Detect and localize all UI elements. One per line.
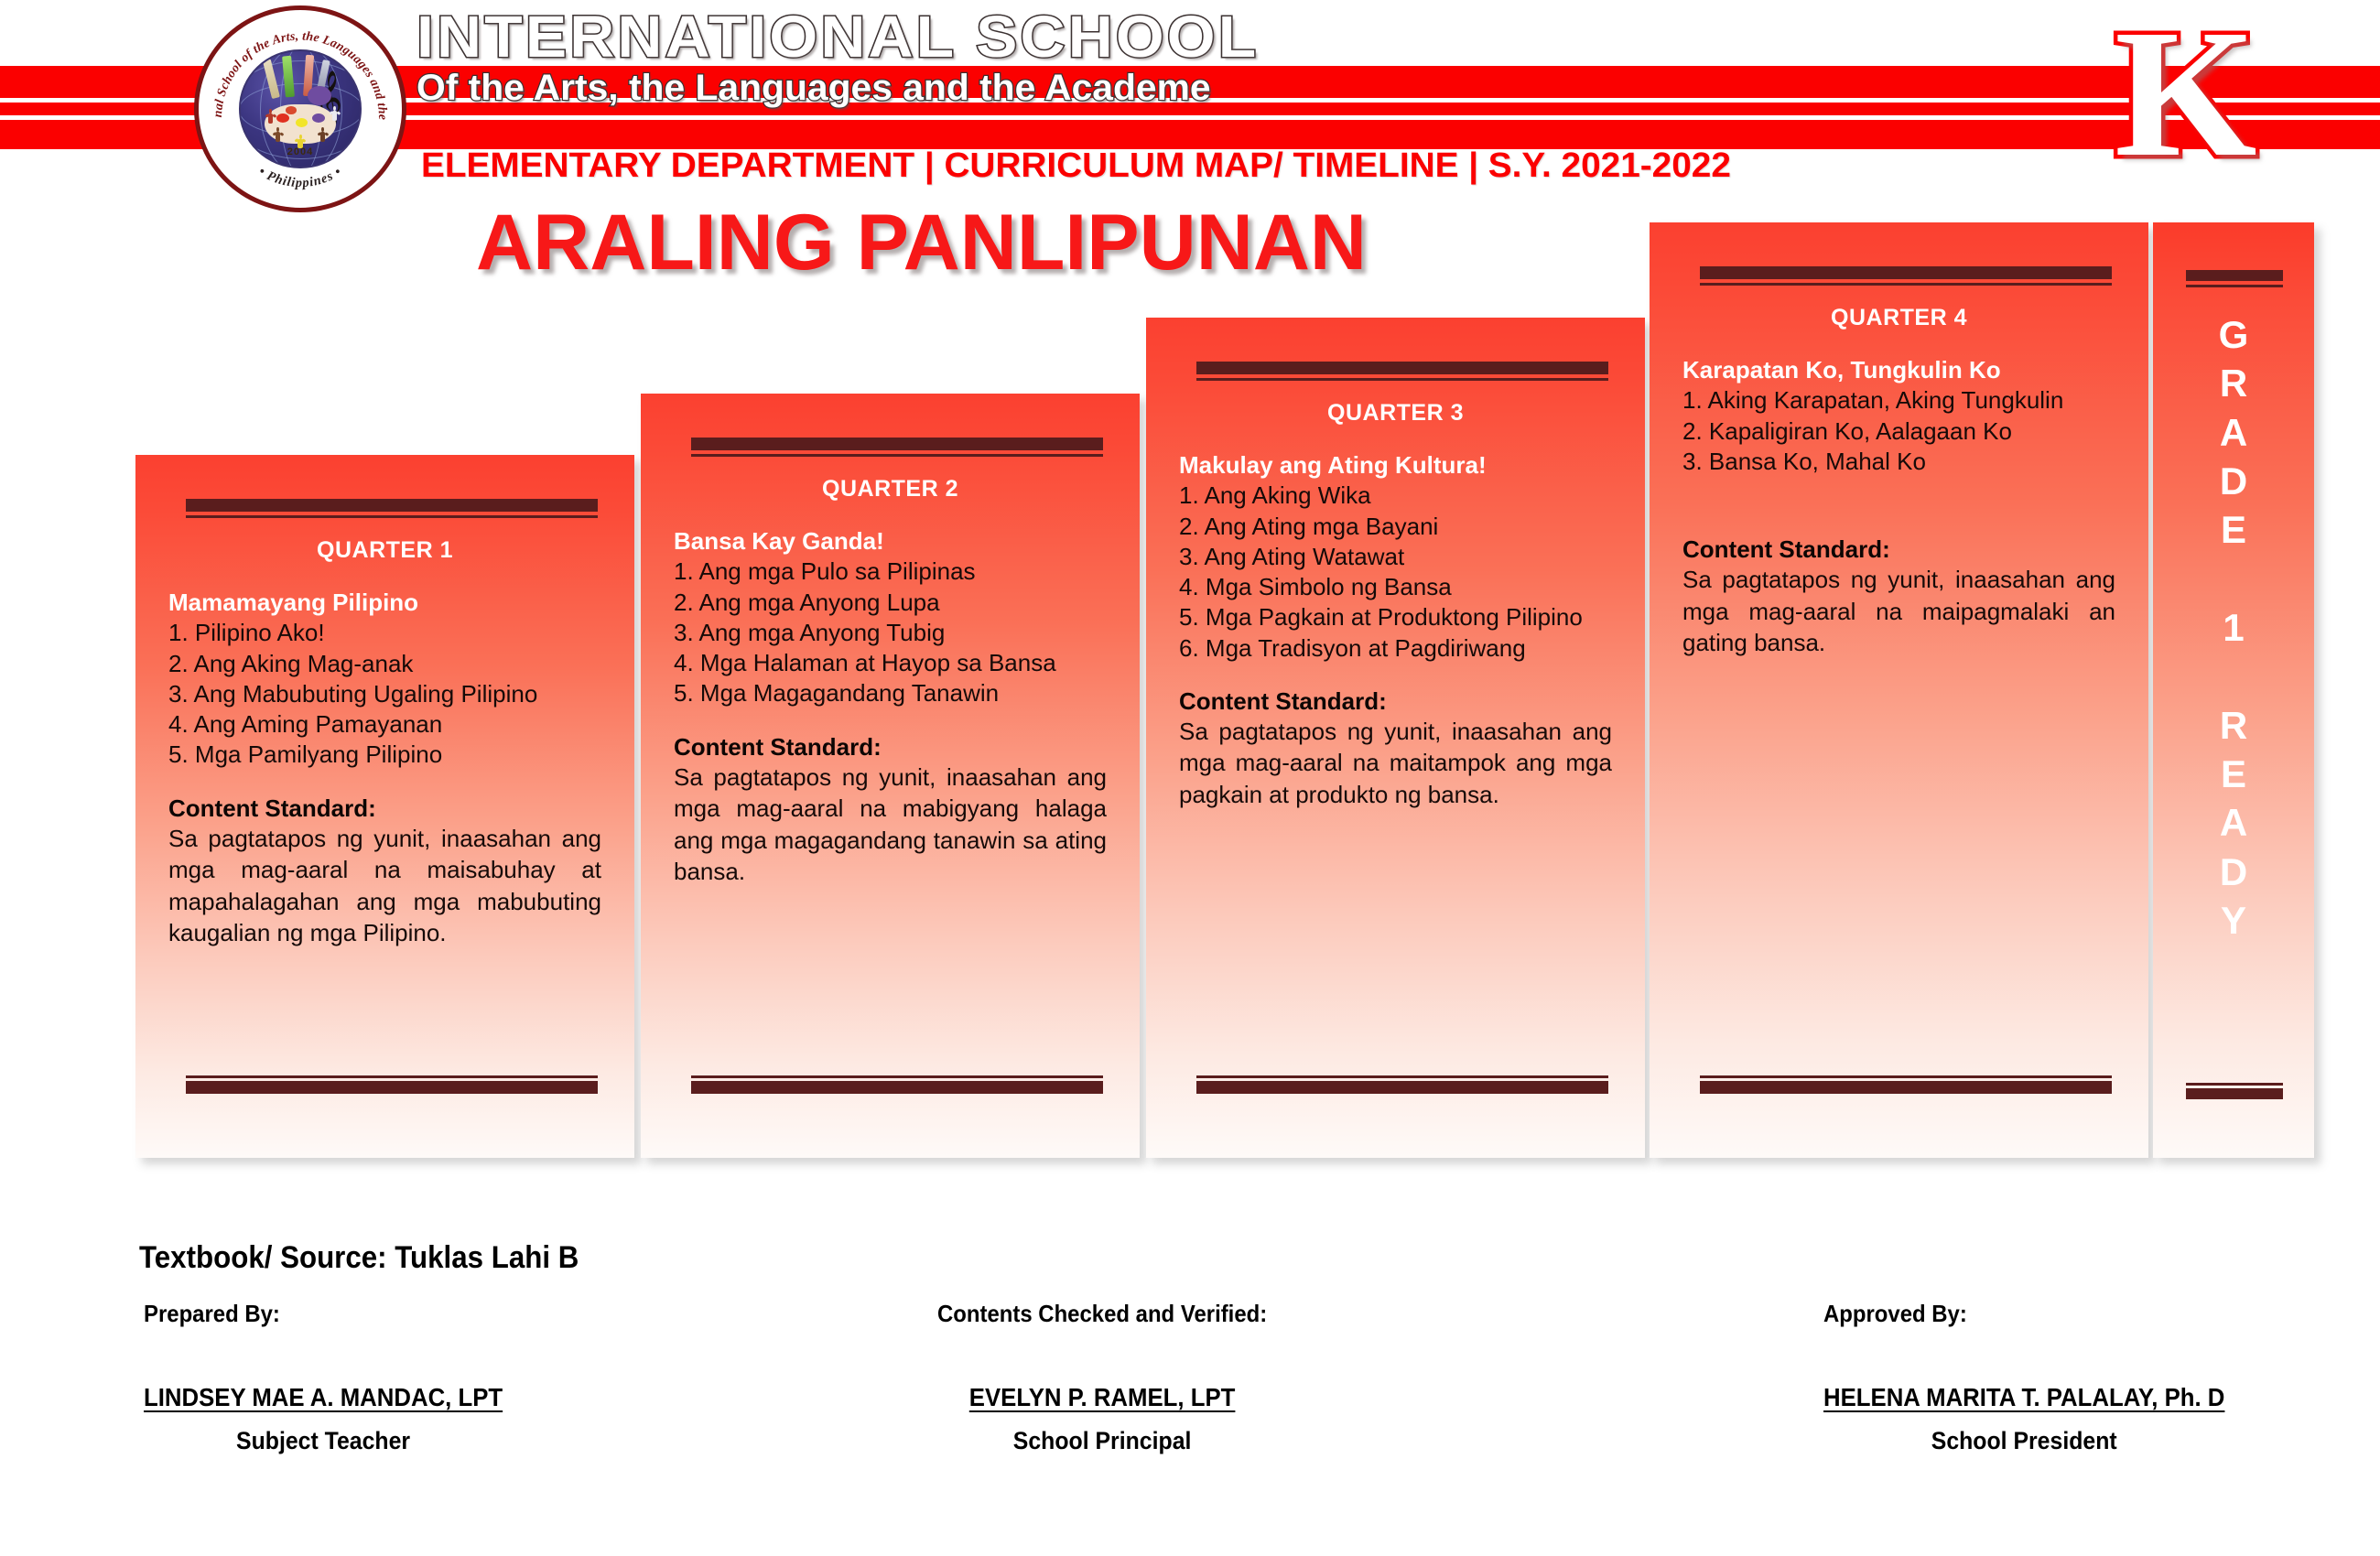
quarter-card-4[interactable]: QUARTER 4 Karapatan Ko, Tungkulin Ko 1. … — [1650, 222, 2148, 1158]
quarter-card-1[interactable]: QUARTER 1 Mamamayang Pilipino 1. Pilipin… — [135, 455, 634, 1158]
signature-position: School Principal — [937, 1427, 1267, 1455]
signature-name: LINDSEY MAE A. MANDAC, LPT — [144, 1383, 503, 1412]
quarter-topics: 1. Ang Aking Wika 2. Ang Ating mga Bayan… — [1179, 481, 1612, 664]
content-standard-text: Sa pagtatapos ng yunit, inaasahan ang mg… — [1682, 564, 2115, 659]
quarter-topics: 1. Aking Karapatan, Aking Tungkulin 2. K… — [1682, 385, 2115, 477]
quarter-topics: 1. Ang mga Pulo sa Pilipinas 2. Ang mga … — [674, 556, 1107, 708]
grade-letter: R — [2153, 701, 2314, 750]
content-standard-label: Content Standard: — [168, 794, 601, 823]
quarter-topics: 1. Pilipino Ako! 2. Ang Aking Mag-anak 3… — [168, 618, 601, 770]
quarter-heading: QUARTER 1 — [168, 537, 601, 564]
topic-item: 3. Ang Mabubuting Ugaling Pilipino — [168, 679, 601, 709]
card-rule-top — [1196, 362, 1608, 381]
quarter-heading: QUARTER 2 — [674, 476, 1107, 502]
quarter-card-2[interactable]: QUARTER 2 Bansa Kay Ganda! 1. Ang mga Pu… — [641, 394, 1140, 1158]
topic-item: 2. Ang Aking Mag-anak — [168, 649, 601, 679]
topic-item: 2. Kapaligiran Ko, Aalagaan Ko — [1682, 416, 2115, 447]
content-standard-label: Content Standard: — [1682, 535, 2115, 564]
quarter-heading: QUARTER 3 — [1179, 400, 1612, 427]
signature-block-checked-by: Contents Checked and Verified: EVELYN P.… — [796, 1300, 1437, 1455]
card-rule-bottom — [1196, 1075, 1608, 1094]
topic-item: 3. Ang mga Anyong Tubig — [674, 618, 1107, 648]
grade-letter: E — [2153, 505, 2314, 554]
card-rule-bottom — [691, 1075, 1103, 1094]
topic-item: 6. Mga Tradisyon at Pagdiriwang — [1179, 633, 1612, 664]
grade-letter: Y — [2153, 896, 2314, 945]
content-standard-text: Sa pagtatapos ng yunit, inaasahan ang mg… — [168, 823, 601, 949]
topic-item: 1. Aking Karapatan, Aking Tungkulin — [1682, 385, 2115, 416]
quarter-subtitle: Karapatan Ko, Tungkulin Ko — [1682, 355, 2115, 385]
card-rule-bottom — [1700, 1075, 2112, 1094]
quarter-subtitle: Mamamayang Pilipino — [168, 588, 601, 618]
grade-letter: D — [2153, 457, 2314, 505]
grade-letter: A — [2153, 408, 2314, 457]
topic-item: 1. Ang mga Pulo sa Pilipinas — [674, 556, 1107, 587]
topic-item: 4. Ang Aming Pamayanan — [168, 709, 601, 740]
grade-letter: D — [2153, 848, 2314, 896]
textbook-source: Textbook/ Source: Tuklas Lahi B — [139, 1240, 579, 1276]
quarter-cards-container: QUARTER 1 Mamamayang Pilipino 1. Pilipin… — [0, 0, 2380, 1208]
grade-ready-column[interactable]: G R A D E 1 R E A D Y — [2153, 222, 2314, 1158]
grade-letter: G — [2153, 310, 2314, 359]
topic-item: 5. Mga Pamilyang Pilipino — [168, 740, 601, 770]
signature-position: School President — [1823, 1427, 2224, 1455]
card-rule-top — [1700, 266, 2112, 286]
signature-block-approved-by: Approved By: HELENA MARITA T. PALALAY, P… — [1721, 1300, 2362, 1455]
topic-item: 3. Bansa Ko, Mahal Ko — [1682, 447, 2115, 477]
signature-block-prepared-by: Prepared By: LINDSEY MAE A. MANDAC, LPT … — [18, 1300, 659, 1455]
quarter-heading: QUARTER 4 — [1682, 305, 2115, 331]
signature-role: Approved By: — [1823, 1300, 2224, 1328]
grade-letter: R — [2153, 359, 2314, 407]
topic-item: 3. Ang Ating Watawat — [1179, 542, 1612, 572]
topic-item: 1. Pilipino Ako! — [168, 618, 601, 648]
card-rule-top — [186, 499, 598, 518]
grade-ready-letters: G R A D E 1 R E A D Y — [2153, 310, 2314, 945]
page-footer: Textbook/ Source: Tuklas Lahi B Prepared… — [0, 1208, 2380, 1556]
quarter-subtitle: Makulay ang Ating Kultura! — [1179, 450, 1612, 481]
content-standard-label: Content Standard: — [1179, 687, 1612, 716]
quarter-subtitle: Bansa Kay Ganda! — [674, 526, 1107, 556]
signature-position: Subject Teacher — [144, 1427, 503, 1455]
grade-letter: 1 — [2153, 603, 2314, 652]
quarter-card-3[interactable]: QUARTER 3 Makulay ang Ating Kultura! 1. … — [1146, 318, 1645, 1158]
content-standard-text: Sa pagtatapos ng yunit, inaasahan ang mg… — [1179, 716, 1612, 811]
card-rule-top — [2186, 270, 2283, 287]
topic-item: 5. Mga Pagkain at Produktong Pilipino — [1179, 602, 1612, 632]
topic-item: 5. Mga Magagandang Tanawin — [674, 678, 1107, 708]
topic-item: 4. Mga Halaman at Hayop sa Bansa — [674, 648, 1107, 678]
grade-letter: E — [2153, 750, 2314, 798]
signature-name: HELENA MARITA T. PALALAY, Ph. D — [1823, 1383, 2224, 1412]
topic-item: 4. Mga Simbolo ng Bansa — [1179, 572, 1612, 602]
content-standard-label: Content Standard: — [674, 733, 1107, 762]
signature-role: Contents Checked and Verified: — [937, 1300, 1267, 1328]
content-standard-text: Sa pagtatapos ng yunit, inaasahan ang mg… — [674, 762, 1107, 888]
card-rule-top — [691, 438, 1103, 457]
card-rule-bottom — [2186, 1083, 2283, 1099]
signature-name: EVELYN P. RAMEL, LPT — [937, 1383, 1267, 1412]
grade-letter: A — [2153, 798, 2314, 847]
card-rule-bottom — [186, 1075, 598, 1094]
signature-role: Prepared By: — [144, 1300, 503, 1328]
topic-item: 1. Ang Aking Wika — [1179, 481, 1612, 511]
topic-item: 2. Ang mga Anyong Lupa — [674, 588, 1107, 618]
topic-item: 2. Ang Ating mga Bayani — [1179, 512, 1612, 542]
